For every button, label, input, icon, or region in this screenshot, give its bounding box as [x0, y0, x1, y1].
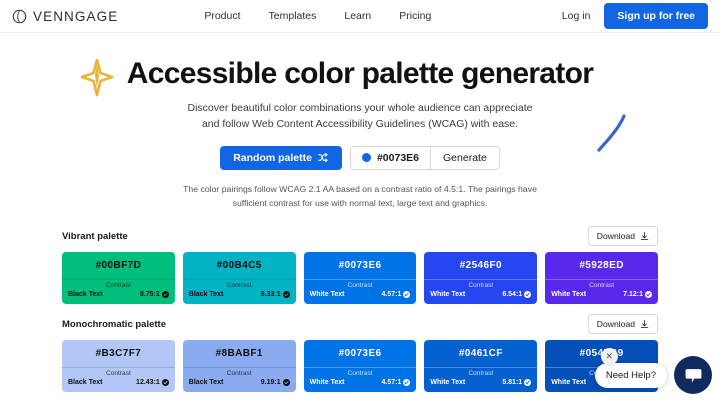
- check-circle-icon: [162, 291, 169, 298]
- monochromatic-palette-header: Monochromatic palette Download: [62, 314, 658, 334]
- monochromatic-palette-title: Monochromatic palette: [62, 319, 166, 330]
- contrast-ratio: 8.75:1: [140, 291, 169, 298]
- swatch-vibrant-2[interactable]: #00B4C5 Contrast Black Text 8.33:1: [183, 252, 296, 304]
- contrast-label: Contrast: [189, 282, 290, 289]
- swatch-hex: #00BF7D: [62, 252, 175, 279]
- hero-subtitle: Discover beautiful color combinations yo…: [180, 100, 540, 133]
- contrast-ratio: 5.81:1: [502, 379, 531, 386]
- page-title: Accessible color palette generator: [0, 57, 720, 90]
- nav-link-templates[interactable]: Templates: [269, 10, 317, 22]
- chat-launcher-button[interactable]: [674, 356, 712, 394]
- swatch-footer: Contrast White Text 4.57:1: [304, 279, 417, 304]
- color-swatch-dot[interactable]: [362, 153, 371, 162]
- chat-close-button[interactable]: ✕: [601, 348, 618, 365]
- vibrant-palette-title: Vibrant palette: [62, 231, 128, 242]
- hex-value: #0073E6: [377, 152, 419, 164]
- swatch-footer: Contrast Black Text 9.19:1: [183, 367, 296, 392]
- swatch-hex: #00B4C5: [183, 252, 296, 279]
- contrast-label: Contrast: [68, 370, 169, 377]
- contrast-ratio-value: 8.33:1: [261, 291, 281, 298]
- swatch-mono-4[interactable]: #0461CF Contrast White Text 5.81:1: [424, 340, 537, 392]
- text-mode-label: Black Text: [189, 291, 224, 298]
- monochromatic-download-label: Download: [597, 319, 635, 329]
- contrast-ratio-value: 9.19:1: [261, 379, 281, 386]
- generate-button[interactable]: Generate: [430, 147, 499, 169]
- nav-actions: Log in Sign up for free: [562, 3, 708, 29]
- swatch-hex: #5928ED: [545, 252, 658, 279]
- contrast-ratio: 8.33:1: [261, 291, 290, 298]
- check-circle-icon: [524, 379, 531, 386]
- brand-name: VENNGAGE: [33, 9, 118, 24]
- wcag-note: The color pairings follow WCAG 2.1 AA ba…: [168, 182, 553, 211]
- swatch-vibrant-4[interactable]: #2546F0 Contrast White Text 6.54:1: [424, 252, 537, 304]
- contrast-ratio-value: 4.57:1: [382, 379, 402, 386]
- monochromatic-download-button[interactable]: Download: [588, 314, 658, 334]
- nav-link-pricing[interactable]: Pricing: [399, 10, 431, 22]
- swatch-hex: #B3C7F7: [62, 340, 175, 367]
- swatch-hex: #0073E6: [304, 340, 417, 367]
- nav-link-learn[interactable]: Learn: [344, 10, 371, 22]
- contrast-ratio: 12.43:1: [136, 379, 169, 386]
- swatch-footer: Contrast White Text 5.81:1: [424, 367, 537, 392]
- need-help-tooltip[interactable]: Need Help?: [595, 363, 667, 388]
- swatch-hex: #0461CF: [424, 340, 537, 367]
- contrast-ratio-value: 6.54:1: [502, 291, 522, 298]
- swatch-hex: #2546F0: [424, 252, 537, 279]
- random-palette-label: Random palette: [233, 152, 312, 164]
- contrast-label: Contrast: [430, 370, 531, 377]
- text-mode-label: White Text: [310, 291, 345, 298]
- contrast-ratio-value: 5.81:1: [502, 379, 522, 386]
- check-circle-icon: [524, 291, 531, 298]
- nav-link-product[interactable]: Product: [204, 10, 240, 22]
- vibrant-download-button[interactable]: Download: [588, 226, 658, 246]
- swatch-vibrant-1[interactable]: #00BF7D Contrast Black Text 8.75:1: [62, 252, 175, 304]
- check-circle-icon: [403, 379, 410, 386]
- page-root: VENNGAGE Product Templates Learn Pricing…: [0, 0, 720, 400]
- generator-controls: Random palette #0073E6 Generate: [0, 146, 720, 170]
- shuffle-icon: [318, 152, 329, 163]
- contrast-label: Contrast: [68, 282, 169, 289]
- login-link[interactable]: Log in: [562, 10, 591, 22]
- check-circle-icon: [283, 291, 290, 298]
- hero-section: Accessible color palette generator Disco…: [0, 33, 720, 210]
- vibrant-download-label: Download: [597, 231, 635, 241]
- signup-button[interactable]: Sign up for free: [604, 3, 708, 29]
- swatch-footer: Contrast Black Text 12.43:1: [62, 367, 175, 392]
- text-mode-label: Black Text: [189, 379, 224, 386]
- swatch-mono-1[interactable]: #B3C7F7 Contrast Black Text 12.43:1: [62, 340, 175, 392]
- swatch-mono-3[interactable]: #0073E6 Contrast White Text 4.57:1: [304, 340, 417, 392]
- check-circle-icon: [162, 379, 169, 386]
- chat-widget: ✕ Need Help?: [595, 356, 712, 394]
- swatch-footer: Contrast Black Text 8.75:1: [62, 279, 175, 304]
- swatch-vibrant-3[interactable]: #0073E6 Contrast White Text 4.57:1: [304, 252, 417, 304]
- contrast-ratio-value: 8.75:1: [140, 291, 160, 298]
- text-mode-label: White Text: [551, 291, 586, 298]
- check-circle-icon: [403, 291, 410, 298]
- swatch-mono-2[interactable]: #8BABF1 Contrast Black Text 9.19:1: [183, 340, 296, 392]
- contrast-ratio-value: 7.12:1: [623, 291, 643, 298]
- text-mode-label: White Text: [551, 379, 586, 386]
- swatch-hex: #8BABF1: [183, 340, 296, 367]
- hex-color-input[interactable]: #0073E6: [351, 147, 430, 169]
- download-icon: [640, 232, 649, 241]
- contrast-label: Contrast: [430, 282, 531, 289]
- contrast-ratio: 4.57:1: [382, 379, 411, 386]
- vibrant-palette-header: Vibrant palette Download: [62, 226, 658, 246]
- check-circle-icon: [283, 379, 290, 386]
- venn-circle-icon: [12, 9, 27, 24]
- check-circle-icon: [645, 291, 652, 298]
- contrast-ratio: 7.12:1: [623, 291, 652, 298]
- text-mode-label: Black Text: [68, 379, 103, 386]
- swatch-footer: Contrast White Text 7.12:1: [545, 279, 658, 304]
- download-icon: [640, 320, 649, 329]
- random-palette-button[interactable]: Random palette: [220, 146, 342, 170]
- contrast-label: Contrast: [310, 370, 411, 377]
- contrast-ratio: 4.57:1: [382, 291, 411, 298]
- text-mode-label: White Text: [430, 379, 465, 386]
- swatch-vibrant-5[interactable]: #5928ED Contrast White Text 7.12:1: [545, 252, 658, 304]
- contrast-label: Contrast: [310, 282, 411, 289]
- contrast-ratio-value: 12.43:1: [136, 379, 160, 386]
- contrast-ratio-value: 4.57:1: [382, 291, 402, 298]
- vibrant-swatch-row: #00BF7D Contrast Black Text 8.75:1: [62, 252, 658, 304]
- monochromatic-swatch-row: #B3C7F7 Contrast Black Text 12.43:1: [62, 340, 658, 392]
- swatch-footer: Contrast White Text 4.57:1: [304, 367, 417, 392]
- text-mode-label: White Text: [430, 291, 465, 298]
- contrast-label: Contrast: [189, 370, 290, 377]
- swatch-footer: Contrast Black Text 8.33:1: [183, 279, 296, 304]
- text-mode-label: Black Text: [68, 291, 103, 298]
- contrast-label: Contrast: [551, 282, 652, 289]
- chat-bubble-icon: [684, 366, 703, 385]
- swatch-hex: #0073E6: [304, 252, 417, 279]
- brand-logo[interactable]: VENNGAGE: [12, 9, 118, 24]
- contrast-ratio: 6.54:1: [502, 291, 531, 298]
- text-mode-label: White Text: [310, 379, 345, 386]
- nav-links: Product Templates Learn Pricing: [204, 10, 431, 22]
- hex-input-group: #0073E6 Generate: [350, 146, 500, 170]
- swatch-footer: Contrast White Text 6.54:1: [424, 279, 537, 304]
- contrast-ratio: 9.19:1: [261, 379, 290, 386]
- top-navbar: VENNGAGE Product Templates Learn Pricing…: [0, 0, 720, 33]
